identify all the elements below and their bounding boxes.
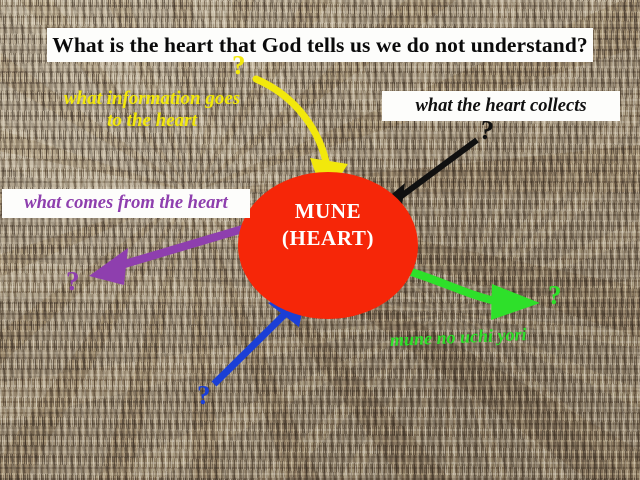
label-comes-from-heart: what comes from the heart	[24, 193, 228, 214]
question-mark-green: ?	[548, 282, 562, 309]
label-information-in-line1: what information goes	[26, 88, 278, 110]
title-box: What is the heart that God tells us we d…	[47, 28, 593, 62]
question-mark-purple: ?	[66, 268, 80, 295]
question-mark-blue: ?	[197, 382, 211, 409]
label-information-in: what information goes to the heart	[26, 88, 278, 133]
heart-label: MUNE (HEART)	[238, 198, 418, 252]
page-title: What is the heart that God tells us we d…	[52, 33, 587, 58]
label-comes-from-heart-box: what comes from the heart	[2, 189, 250, 218]
question-mark-yellow: ?	[232, 52, 246, 79]
green-arrow	[408, 271, 540, 320]
heart-label-line2: (HEART)	[238, 225, 418, 252]
label-information-in-line2: to the heart	[26, 110, 278, 132]
label-heart-collects-box: what the heart collects	[382, 91, 620, 121]
heart-label-line1: MUNE	[238, 198, 418, 225]
slide-canvas: MUNE (HEART) What is the heart that God …	[0, 0, 640, 480]
label-heart-collects: what the heart collects	[415, 96, 586, 117]
